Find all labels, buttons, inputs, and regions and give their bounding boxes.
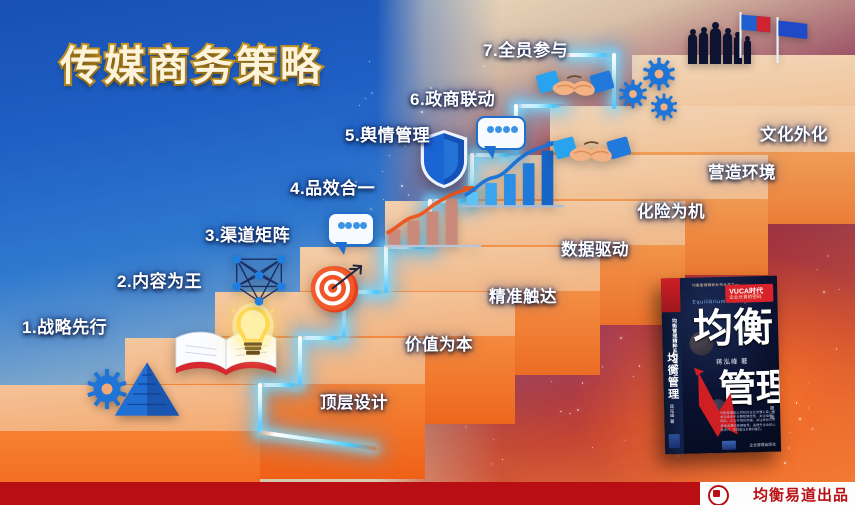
flag-icon-2: [775, 16, 809, 64]
book-spine-title: 均衡管理: [666, 352, 679, 400]
book-publisher-logo: [722, 441, 736, 450]
step-label-5: 5.舆情管理: [345, 121, 430, 146]
stair-glow-edge: [300, 336, 344, 340]
book-spine-band: [661, 278, 681, 312]
bubble-dot: [503, 126, 510, 133]
outcome-label-4: 数据驱动: [561, 236, 629, 260]
bar-chart-blue-icon: [459, 140, 567, 208]
book-spine-publisher-mark: [669, 434, 680, 448]
outcome-label-7: 文化外化: [760, 121, 828, 145]
stair-glow-edge-vertical: [258, 383, 262, 433]
outcome-label-3: 精准触达: [489, 283, 557, 307]
footer-bar: 均衡易道出品: [0, 482, 855, 505]
step-label-3: 3.渠道矩阵: [205, 221, 290, 246]
chat-bubble-body: [327, 212, 375, 246]
slide-canvas: 传媒商务策略 1.战略先行2.内容为王3.渠道矩阵4.品效合一5.舆情管理6.政…: [0, 0, 855, 505]
person-silhouette: [723, 33, 732, 64]
step-label-4: 4.品效合一: [290, 174, 375, 199]
chat-bubble-icon-2: [476, 116, 526, 150]
book-cover-image: 均衡管理精粹系列丛书之一 均衡管理 蒋泓峰 著 均衡管理精粹系列丛书之一 Equ…: [661, 276, 781, 455]
outcome-label-5: 化险为机: [637, 198, 705, 222]
book-author-suffix: 著: [741, 355, 748, 365]
book-front-face: 均衡管理精粹系列丛书之一 Equilibrium Management VUCA…: [680, 276, 781, 454]
book-blurb: 均衡管理是21世纪的企业发展之道，是关注企业中长期稳健经营、关注组织、团队、人与…: [720, 410, 775, 432]
step-label-7: 7.全员参与: [483, 36, 568, 61]
chat-bubble-body-2: [476, 116, 526, 150]
handshake-icon-2: [553, 130, 631, 180]
book-spine-author: 蒋泓峰 著: [669, 404, 675, 423]
bubble-tail: [484, 146, 496, 159]
person-head: [712, 22, 719, 29]
person-silhouette: [710, 28, 721, 64]
bubble-dot: [338, 222, 345, 229]
person-head: [701, 27, 707, 33]
footer-brand-label: 均衡易道出品: [753, 484, 849, 505]
outcome-label-6: 营造环境: [708, 159, 776, 183]
bubble-dot: [353, 222, 360, 229]
book-badge-line2: 企业长青的密码: [729, 294, 761, 301]
bubble-dot: [487, 126, 494, 133]
person-head: [690, 29, 696, 35]
page-title: 传媒商务策略: [60, 32, 324, 92]
outcome-label-1: 顶层设计: [320, 389, 388, 413]
chat-bubble-icon: [327, 212, 375, 246]
book-title-char-2: 衡: [733, 308, 774, 349]
bubble-dot: [495, 126, 502, 133]
person-head: [725, 28, 731, 34]
bubble-dot: [360, 222, 367, 229]
book-publisher: 企业管理出版社: [749, 443, 776, 449]
book-vuca-badge: VUCA时代 企业长青的密码: [725, 284, 773, 303]
stair-glow-edge-vertical: [298, 336, 302, 386]
stair-glow-edge: [260, 383, 300, 387]
bubble-tail: [335, 242, 347, 255]
gears-cluster-icon-2: [618, 79, 648, 109]
bubble-dot: [511, 126, 518, 133]
target-arrow-icon: [306, 258, 364, 316]
stair-glow-edge-vertical: [384, 245, 388, 293]
step-label-6: 6.政商联动: [410, 85, 495, 110]
bubble-dot: [345, 222, 352, 229]
network-mesh-icon: [228, 248, 290, 310]
book-title-char-1: 均: [693, 309, 734, 350]
outcome-label-2: 价值为本: [405, 331, 473, 355]
step-label-2: 2.内容为王: [117, 267, 202, 292]
flag-icon: [738, 11, 772, 59]
book-title-char-4: 理: [755, 369, 781, 408]
step-label-1: 1.战略先行: [22, 313, 107, 338]
circular-seal-icon: [708, 485, 729, 505]
lightbulb-icon: [232, 303, 274, 361]
stair-glow-edge: [564, 53, 614, 57]
person-silhouette: [688, 34, 697, 64]
handshake-icon: [536, 64, 614, 114]
gears-cluster-icon-3: [650, 93, 678, 121]
person-silhouette: [699, 32, 708, 64]
